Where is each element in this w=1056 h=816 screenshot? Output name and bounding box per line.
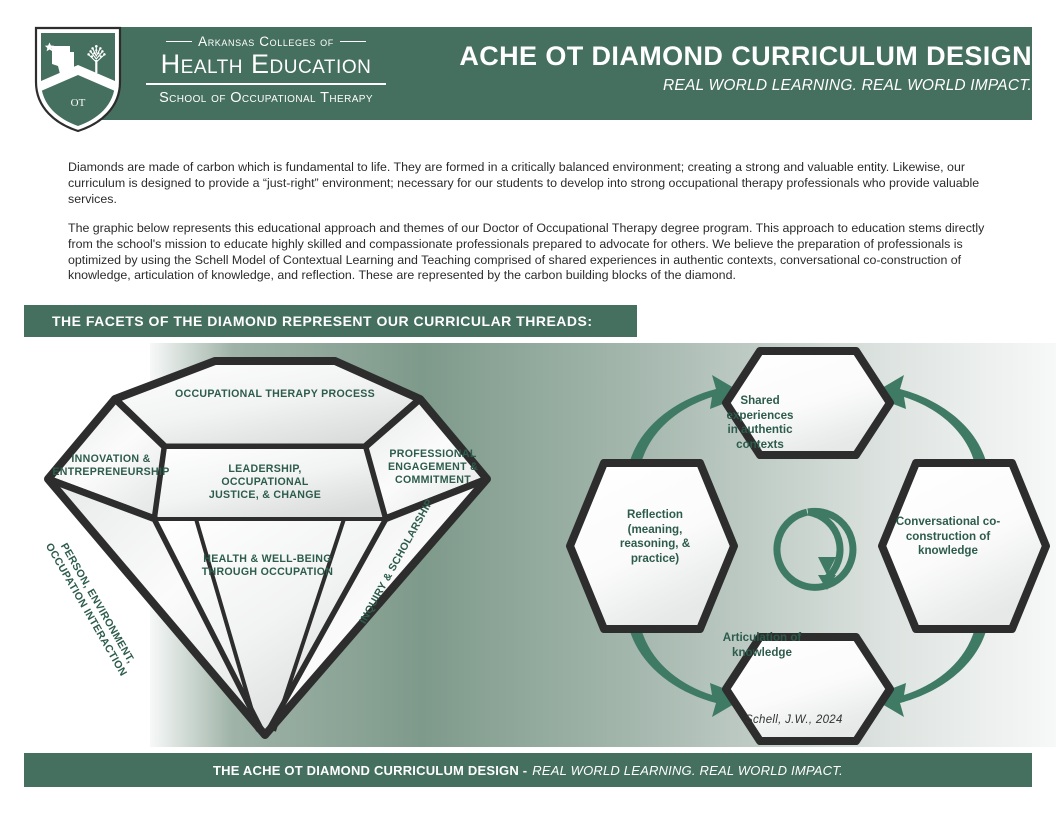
wordmark-line-3: School of Occupational Therapy [146,90,386,106]
circular-arrow-icon [777,511,853,587]
source-citation: Schell, J.W., 2024 [745,714,843,726]
diamond-graphic [0,343,540,747]
wordmark-line-2: Health Education [146,49,386,80]
diagram-area: OCCUPATIONAL THERAPY PROCESS INNOVATION … [0,343,1056,747]
curricular-threads-banner: THE FACETS OF THE DIAMOND REPRESENT OUR … [24,305,637,337]
shield-monogram-ot: OT [71,97,86,109]
wordmark-rule-left [166,41,192,42]
footer-title: THE ACHE OT DIAMOND CURRICULUM DESIGN - [213,763,527,778]
page-footer: THE ACHE OT DIAMOND CURRICULUM DESIGN - … [24,753,1032,787]
page-title: ACHE OT DIAMOND CURRICULUM DESIGN [432,40,1032,72]
wordmark-line-1-text: Arkansas Colleges of [198,34,334,49]
hex-reflection [570,463,734,629]
wordmark-divider [146,83,386,85]
wordmark-line-1: Arkansas Colleges of [146,34,386,49]
facet-leadership-occupational-justice-change [155,447,385,519]
schell-cycle-graphic [560,343,1056,747]
intro-paragraph-2: The graphic below represents this educat… [68,221,1003,283]
wordmark-rule-right [340,41,366,42]
header-title-block: ACHE OT DIAMOND CURRICULUM DESIGN REAL W… [432,40,1032,97]
hex-conversational-co-construction [882,463,1046,629]
intro-paragraph-1: Diamonds are made of carbon which is fun… [68,160,1003,207]
page-subtitle: REAL WORLD LEARNING. REAL WORLD IMPACT. [432,75,1032,97]
hex-shared-experiences [726,351,890,455]
footer-tagline: REAL WORLD LEARNING. REAL WORLD IMPACT. [532,763,843,778]
ache-wordmark: Arkansas Colleges of Health Education Sc… [146,34,386,106]
curricular-threads-banner-text: THE FACETS OF THE DIAMOND REPRESENT OUR … [52,313,593,329]
ache-shield-icon: OT [30,22,126,134]
facet-occupational-therapy-process [115,361,420,447]
page-header: OT [0,0,1056,135]
